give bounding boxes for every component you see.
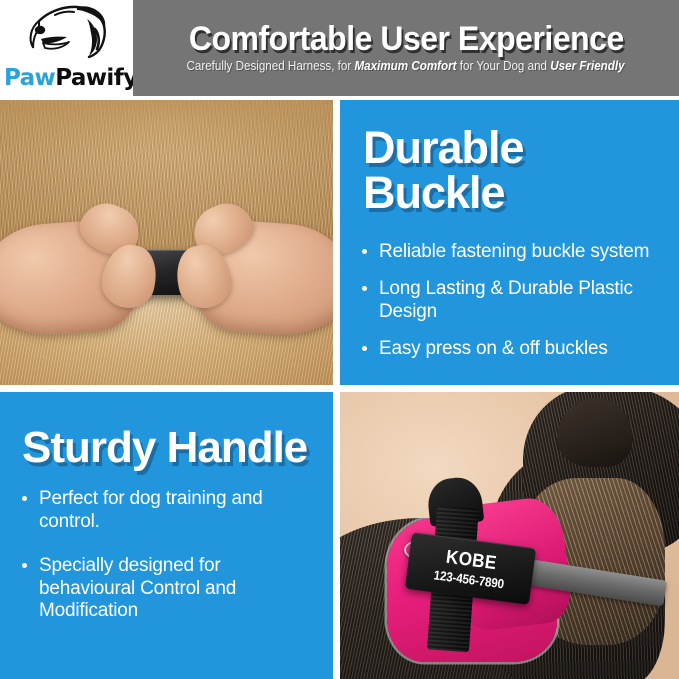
bullet-dot-icon — [22, 496, 27, 501]
brand-name-part2: Pawify — [55, 65, 133, 91]
list-item: Perfect for dog training and control. — [20, 488, 315, 533]
feature-content: Sturdy Handle Perfect for dog training a… — [0, 392, 333, 679]
header-subtitle: Carefully Designed Harness, for Maximum … — [187, 60, 625, 74]
subtitle-before: Carefully Designed Harness, for — [187, 59, 355, 73]
bullet-text: Perfect for dog training and control. — [39, 488, 263, 531]
subtitle-emphasis-1: Maximum Comfort — [355, 59, 457, 73]
bullet-text: Specially designed for behavioural Contr… — [39, 555, 236, 621]
feature-title-sturdy-handle: Sturdy Handle — [22, 426, 315, 470]
photo-buckle-closeup — [0, 100, 333, 385]
bullet-dot-icon — [362, 286, 367, 291]
feature-content: Durable Buckle Reliable fastening buckle… — [340, 100, 679, 385]
bullet-text: Reliable fastening buckle system — [379, 241, 649, 262]
feature-sturdy-handle: Sturdy Handle Perfect for dog training a… — [0, 392, 333, 679]
list-item: Easy press on & off buckles — [360, 338, 661, 360]
bullet-dot-icon — [22, 563, 27, 568]
feature-durable-buckle: Durable Buckle Reliable fastening buckle… — [340, 100, 679, 385]
dog-head-icon — [15, 1, 119, 63]
header-text-band: Comfortable User Experience Carefully De… — [133, 0, 679, 96]
bullet-text: Easy press on & off buckles — [379, 338, 608, 359]
header-banner: PawPawify Comfortable User Experience Ca… — [0, 0, 679, 96]
brand-wordmark: PawPawify — [4, 67, 129, 90]
header-title: Comfortable User Experience — [189, 22, 624, 57]
fur-shadow-top — [0, 100, 333, 157]
feature-bullet-list: Reliable fastening buckle system Long La… — [360, 241, 661, 361]
buckle-photo-scene — [0, 100, 333, 385]
bullet-dot-icon — [362, 346, 367, 351]
product-infographic: PawPawify Comfortable User Experience Ca… — [0, 0, 679, 679]
bullet-dot-icon — [362, 249, 367, 254]
harness-photo-scene: KOBE 123-456-7890 — [340, 392, 679, 679]
feature-bullet-list: Perfect for dog training and control. Sp… — [20, 488, 315, 644]
photo-dog-wearing-harness: KOBE 123-456-7890 — [340, 392, 679, 679]
brand-logo: PawPawify — [0, 0, 133, 96]
bullet-text: Long Lasting & Durable Plastic Design — [379, 278, 633, 321]
list-item: Specially designed for behavioural Contr… — [20, 555, 315, 622]
subtitle-middle: for Your Dog and — [457, 59, 551, 73]
subtitle-emphasis-2: User Friendly — [551, 59, 625, 73]
list-item: Reliable fastening buckle system — [360, 241, 661, 263]
brand-name-part1: Paw — [4, 65, 55, 91]
feature-title-durable-buckle: Durable Buckle — [363, 125, 661, 215]
list-item: Long Lasting & Durable Plastic Design — [360, 278, 661, 323]
